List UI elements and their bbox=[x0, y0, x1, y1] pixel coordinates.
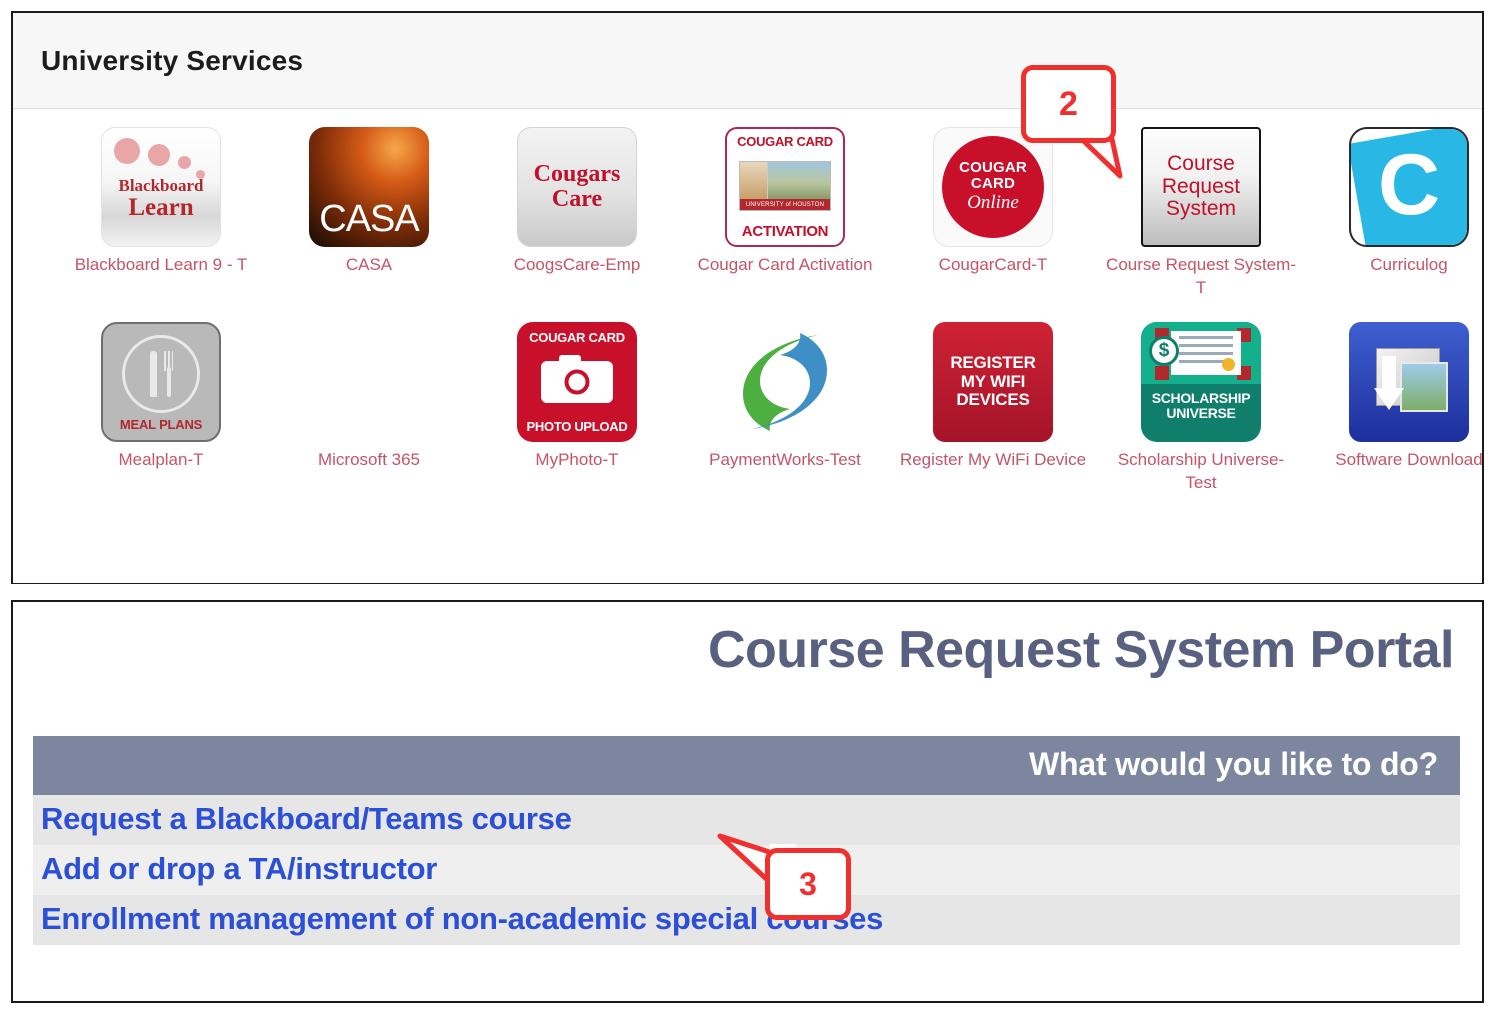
app-label: PaymentWorks-Test bbox=[709, 449, 861, 472]
myphoto-icon[interactable]: COUGAR CARD PHOTO UPLOAD bbox=[517, 322, 637, 442]
app-label: Register My WiFi Device bbox=[900, 449, 1086, 472]
myphoto-top-text: COUGAR CARD bbox=[529, 330, 625, 345]
crs-line-1: Course bbox=[1167, 153, 1235, 176]
portal-link-enrollment-management[interactable]: Enrollment management of non-academic sp… bbox=[41, 901, 883, 936]
software-download-icon[interactable] bbox=[1349, 322, 1469, 442]
app-label: MyPhoto-T bbox=[535, 449, 618, 472]
scholarship-line-2: UNIVERSE bbox=[1166, 406, 1235, 421]
myphoto-bottom-text: PHOTO UPLOAD bbox=[527, 419, 628, 434]
app-tile-mealplan[interactable]: MEAL PLANS Mealplan-T bbox=[57, 322, 265, 472]
camera-icon bbox=[541, 361, 613, 403]
dollar-coin-icon: $ bbox=[1149, 336, 1179, 366]
blackboard-word-bottom: Learn bbox=[102, 194, 220, 222]
app-tile-casa[interactable]: CASA CASA bbox=[265, 127, 473, 277]
app-label: CASA bbox=[346, 254, 392, 277]
icon-row-1: Blackboard Learn Blackboard Learn 9 - T … bbox=[13, 127, 1482, 300]
activation-bottom-text: ACTIVATION bbox=[742, 223, 828, 240]
id-card-graphic: UNIVERSITY of HOUSTON bbox=[739, 161, 831, 211]
certificate-graphic: $ bbox=[1141, 322, 1261, 384]
callout-badge-2: 2 bbox=[1021, 65, 1116, 143]
blackboard-dots bbox=[108, 134, 214, 180]
app-tile-coogscare[interactable]: Cougars Care CoogsCare-Emp bbox=[473, 127, 681, 277]
app-label: CougarCard-T bbox=[939, 254, 1048, 277]
callout-number: 2 bbox=[1059, 85, 1078, 124]
cougarcard-line-1: COUGAR bbox=[959, 160, 1027, 176]
app-tile-curriculog[interactable]: C Curriculog bbox=[1305, 127, 1482, 277]
app-tile-software-download[interactable]: Software Download bbox=[1305, 322, 1482, 472]
screenshot-root: University Services Blackboard Learn Bla… bbox=[0, 0, 1495, 1013]
university-services-panel: University Services Blackboard Learn Bla… bbox=[11, 11, 1484, 584]
cougarcard-circle: COUGAR CARD Online bbox=[942, 136, 1044, 238]
app-label: Microsoft 365 bbox=[318, 449, 420, 472]
scholarship-line-1: SCHOLARSHIP bbox=[1152, 391, 1251, 406]
page-title: University Services bbox=[41, 45, 303, 77]
register-wifi-icon[interactable]: REGISTER MY WIFI DEVICES bbox=[933, 322, 1053, 442]
coogscare-line-2: Care bbox=[552, 187, 602, 212]
app-tile-paymentworks[interactable]: PaymentWorks-Test bbox=[681, 322, 889, 472]
app-label: Curriculog bbox=[1370, 254, 1447, 277]
callout-badge-3: 3 bbox=[765, 848, 851, 920]
app-label: Software Download bbox=[1335, 449, 1482, 472]
app-label: Blackboard Learn 9 - T bbox=[75, 254, 248, 277]
microsoft-365-icon[interactable] bbox=[309, 322, 429, 442]
app-tile-cougar-card-activation[interactable]: COUGAR CARD UNIVERSITY of HOUSTON ACTIVA… bbox=[681, 127, 889, 277]
crs-line-3: System bbox=[1166, 198, 1236, 221]
callout-number: 3 bbox=[799, 866, 817, 903]
portal-title: Course Request System Portal bbox=[13, 602, 1482, 680]
wifi-line-1: REGISTER bbox=[950, 354, 1035, 372]
mealplan-icon[interactable]: MEAL PLANS bbox=[101, 322, 221, 442]
coogs-care-icon[interactable]: Cougars Care bbox=[517, 127, 637, 247]
app-label: Course Request System-T bbox=[1106, 254, 1296, 300]
app-tile-blackboard-learn[interactable]: Blackboard Learn Blackboard Learn 9 - T bbox=[57, 127, 265, 277]
portal-link-request-course[interactable]: Request a Blackboard/Teams course bbox=[41, 801, 572, 836]
app-tile-register-wifi[interactable]: REGISTER MY WIFI DEVICES Register My WiF… bbox=[889, 322, 1097, 472]
coogscare-line-1: Cougars bbox=[534, 162, 621, 187]
table-row[interactable]: Enrollment management of non-academic sp… bbox=[33, 895, 1460, 945]
paymentworks-icon[interactable] bbox=[725, 322, 845, 442]
course-request-portal-panel: Course Request System Portal What would … bbox=[11, 600, 1484, 1003]
app-tile-scholarship-universe[interactable]: $ SCHOLARSHIP UNIVERSE Scholarship Unive… bbox=[1097, 322, 1305, 495]
app-label: CoogsCare-Emp bbox=[514, 254, 641, 277]
cougar-card-online-icon[interactable]: COUGAR CARD Online bbox=[933, 127, 1053, 247]
blackboard-learn-icon[interactable]: Blackboard Learn bbox=[101, 127, 221, 247]
services-panel-header: University Services bbox=[13, 13, 1482, 109]
services-icon-grid: Blackboard Learn Blackboard Learn 9 - T … bbox=[13, 109, 1482, 583]
casa-icon[interactable]: CASA bbox=[309, 127, 429, 247]
casa-wordmark: CASA bbox=[309, 198, 429, 241]
actions-table-header: What would you like to do? bbox=[33, 736, 1460, 795]
blackboard-word-top: Blackboard bbox=[102, 176, 220, 196]
cougarcard-line-2: CARD bbox=[971, 176, 1015, 192]
icon-row-2: MEAL PLANS Mealplan-T Microsoft 365 bbox=[13, 322, 1482, 495]
download-box-graphic bbox=[1366, 344, 1452, 420]
curriculog-icon[interactable]: C bbox=[1349, 127, 1469, 247]
app-label: Scholarship Universe-Test bbox=[1106, 449, 1296, 495]
crs-line-2: Request bbox=[1162, 176, 1240, 199]
curriculog-letter: C bbox=[1378, 142, 1440, 228]
scholarship-universe-icon[interactable]: $ SCHOLARSHIP UNIVERSE bbox=[1141, 322, 1261, 442]
portal-link-add-drop-ta[interactable]: Add or drop a TA/instructor bbox=[41, 851, 437, 886]
cougar-card-activation-icon[interactable]: COUGAR CARD UNIVERSITY of HOUSTON ACTIVA… bbox=[725, 127, 845, 247]
cougarcard-line-3: Online bbox=[967, 192, 1019, 214]
plate-cutlery-graphic bbox=[122, 335, 200, 413]
app-label: Mealplan-T bbox=[118, 449, 203, 472]
app-tile-microsoft-365[interactable]: Microsoft 365 bbox=[265, 322, 473, 472]
activation-top-text: COUGAR CARD bbox=[737, 134, 833, 149]
app-label: Cougar Card Activation bbox=[698, 254, 873, 277]
activation-card-bar-text: UNIVERSITY of HOUSTON bbox=[740, 199, 830, 210]
mealplan-wordmark: MEAL PLANS bbox=[120, 417, 202, 432]
course-request-system-icon[interactable]: Course Request System bbox=[1141, 127, 1261, 247]
app-tile-myphoto[interactable]: COUGAR CARD PHOTO UPLOAD MyPhoto-T bbox=[473, 322, 681, 472]
wifi-line-3: DEVICES bbox=[956, 391, 1029, 409]
wifi-line-2: MY WIFI bbox=[961, 373, 1025, 391]
